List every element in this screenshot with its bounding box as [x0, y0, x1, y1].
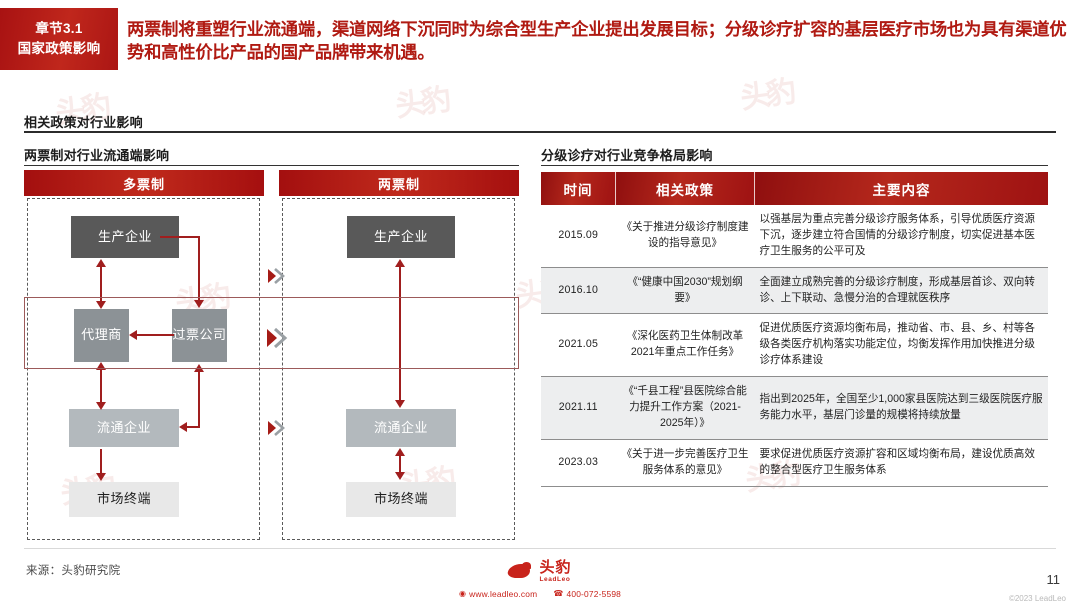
logo-row: 头豹 LeadLeo: [508, 560, 571, 584]
table-row: 2021.11 《“千县工程”县医院综合能力提升工作方案（2021-2025年）…: [541, 377, 1048, 440]
arrow-line: [186, 426, 200, 428]
table-header-row: 时间 相关政策 主要内容: [541, 172, 1048, 205]
arrow-head: [194, 300, 204, 308]
chevron-right-icon: [264, 415, 290, 441]
arrow-head: [129, 330, 137, 340]
arrow-line: [198, 236, 200, 302]
chevron-right-icon: [264, 263, 290, 289]
cell-policy: 《“健康中国2030”规划纲要》: [616, 267, 755, 314]
column-header-content: 主要内容: [755, 172, 1049, 205]
globe-icon: ◉: [459, 589, 466, 598]
page-section-title: 相关政策对行业影响: [24, 112, 143, 131]
arrow-head: [395, 400, 405, 408]
arrow-line: [100, 367, 102, 405]
phone-icon: ☎: [553, 589, 563, 598]
logo-text: 头豹 LeadLeo: [539, 560, 571, 584]
cell-date: 2021.05: [541, 314, 616, 377]
arrow-head: [194, 364, 204, 372]
cell-content: 指出到2025年，全国至少1,000家县医院达到三级医院医疗服务能力水平，基层门…: [755, 377, 1049, 440]
page-number: 11: [1047, 572, 1061, 587]
policy-table: 时间 相关政策 主要内容 2015.09 《关于推进分级诊疗制度建设的指导意见》…: [541, 172, 1048, 487]
cell-content: 以强基层为重点完善分级诊疗服务体系，引导优质医疗资源下沉，逐步建立符合国情的分级…: [755, 205, 1049, 267]
copyright-text: ©2023 LeadLeo: [1009, 594, 1066, 603]
left-section-title: 两票制对行业流通端影响: [24, 145, 169, 164]
node-distributor-multi: 流通企业: [69, 409, 179, 447]
arrow-head: [96, 259, 106, 267]
chevron-right-icon: [264, 325, 290, 351]
distribution-diagram: 多票制 生产企业 代理商 过票公司 流通企业 市场终端: [24, 170, 519, 545]
cell-date: 2016.10: [541, 267, 616, 314]
arrow-head: [395, 472, 405, 480]
brand-logo-block: 头豹 LeadLeo ◉ www.leadleo.com ☎ 400-072-5…: [0, 560, 1080, 599]
table-row: 2021.05 《深化医药卫生体制改革2021年重点工作任务》 促进优质医疗资源…: [541, 314, 1048, 377]
arrow-line: [100, 264, 102, 304]
cell-date: 2015.09: [541, 205, 616, 267]
table-row: 2015.09 《关于推进分级诊疗制度建设的指导意见》 以强基层为重点完善分级诊…: [541, 205, 1048, 267]
banner-headline: 两票制将重塑行业流通端，渠道网络下沉同时为综合型生产企业提出发展目标；分级诊疗扩…: [118, 8, 1080, 70]
arrow-head: [96, 402, 106, 410]
contact-row: ◉ www.leadleo.com ☎ 400-072-5598: [459, 589, 621, 599]
node-terminal-multi: 市场终端: [69, 482, 179, 517]
arrow-head: [395, 448, 405, 456]
cell-content: 要求促进优质医疗资源扩容和区域均衡布局，建设优质高效的整合型医疗卫生服务体系: [755, 439, 1049, 486]
chapter-name: 国家政策影响: [18, 39, 101, 59]
node-agent-multi: 代理商: [74, 309, 129, 362]
arrow-line: [160, 236, 200, 238]
chapter-badge: 章节3.1 国家政策影响: [0, 8, 118, 70]
cell-policy: 《关于进一步完善医疗卫生服务体系的意见》: [616, 439, 755, 486]
website-text: www.leadleo.com: [469, 589, 537, 599]
logo-en-text: LeadLeo: [539, 577, 570, 584]
left-title-rule: [24, 165, 519, 166]
column-header-policy: 相关政策: [616, 172, 755, 205]
chapter-number: 章节3.1: [35, 19, 82, 39]
watermark: 头豹: [737, 67, 795, 118]
chapter-banner: 章节3.1 国家政策影响 两票制将重塑行业流通端，渠道网络下沉同时为综合型生产企…: [0, 8, 1080, 70]
watermark: 头豹: [392, 75, 450, 126]
arrow-head: [96, 473, 106, 481]
arrow-line: [100, 449, 102, 475]
arrow-head: [96, 301, 106, 309]
cell-policy: 《“千县工程”县医院综合能力提升工作方案（2021-2025年）》: [616, 377, 755, 440]
table-row: 2023.03 《关于进一步完善医疗卫生服务体系的意见》 要求促进优质医疗资源扩…: [541, 439, 1048, 486]
cell-policy: 《关于推进分级诊疗制度建设的指导意见》: [616, 205, 755, 267]
cell-content: 全面建立成熟完善的分级诊疗制度，形成基层首诊、双向转诊、上下联动、急慢分治的合理…: [755, 267, 1049, 314]
arrow-head: [179, 422, 187, 432]
phone-item[interactable]: ☎ 400-072-5598: [553, 589, 621, 599]
leopard-logo-icon: [508, 562, 534, 581]
footer-divider: [24, 548, 1056, 549]
node-distributor-two: 流通企业: [346, 409, 456, 447]
arrow-line: [399, 264, 401, 404]
panel-two-invoice-header: 两票制: [279, 170, 519, 196]
website-item[interactable]: ◉ www.leadleo.com: [459, 589, 537, 599]
arrow-head: [395, 259, 405, 267]
page-title-rule: [24, 131, 1056, 133]
policy-table-wrapper: 时间 相关政策 主要内容 2015.09 《关于推进分级诊疗制度建设的指导意见》…: [541, 172, 1048, 487]
right-title-rule: [541, 165, 1048, 166]
logo-cn-text: 头豹: [539, 560, 571, 575]
cell-date: 2021.11: [541, 377, 616, 440]
node-terminal-two: 市场终端: [346, 482, 456, 517]
right-section-title: 分级诊疗对行业竞争格局影响: [541, 145, 713, 164]
arrow-line: [136, 334, 174, 336]
panel-multi-invoice-header: 多票制: [24, 170, 264, 196]
phone-text: 400-072-5598: [566, 589, 621, 599]
arrow-line: [198, 370, 200, 428]
cell-date: 2023.03: [541, 439, 616, 486]
node-pass-through-company-multi: 过票公司: [172, 309, 227, 362]
panel-two-invoice: 两票制 生产企业 流通企业 市场终端: [279, 170, 519, 545]
node-manufacturer-two: 生产企业: [347, 216, 455, 258]
panel-multi-invoice: 多票制 生产企业 代理商 过票公司 流通企业 市场终端: [24, 170, 264, 545]
arrow-head: [96, 362, 106, 370]
table-row: 2016.10 《“健康中国2030”规划纲要》 全面建立成熟完善的分级诊疗制度…: [541, 267, 1048, 314]
column-header-time: 时间: [541, 172, 616, 205]
cell-policy: 《深化医药卫生体制改革2021年重点工作任务》: [616, 314, 755, 377]
cell-content: 促进优质医疗资源均衡布局，推动省、市、县、乡、村等各级各类医疗机构落实功能定位，…: [755, 314, 1049, 377]
